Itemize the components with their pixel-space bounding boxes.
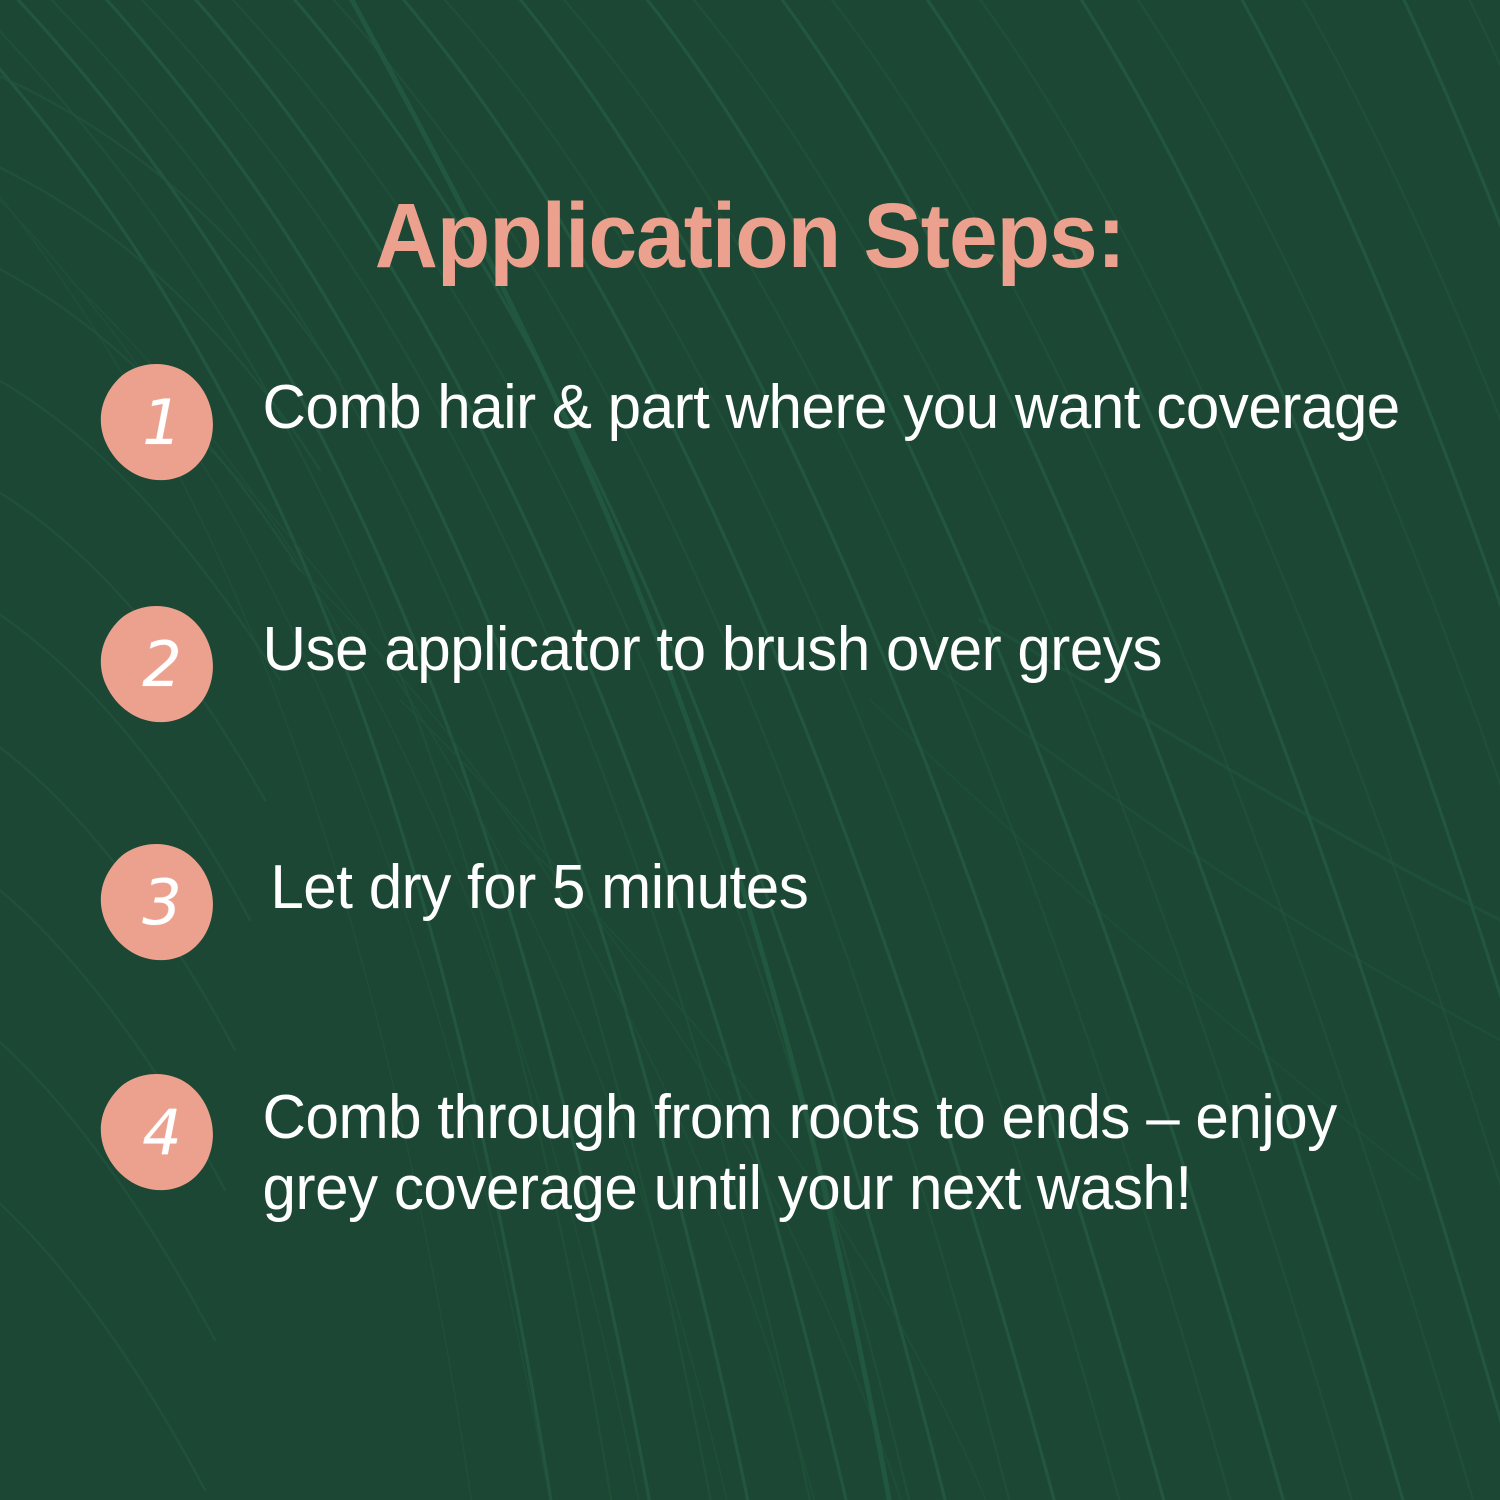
step-text-2: Use applicator to brush over greys (216, 597, 1461, 686)
step-number-3: 3 (98, 841, 216, 961)
page-title: Application Steps: (375, 190, 1125, 282)
step-badge-3: 3 (98, 841, 216, 961)
step-number-2: 2 (98, 603, 216, 723)
step-text-4: Comb through from roots to ends – enjoy … (216, 1065, 1461, 1224)
step-badge-2: 2 (98, 603, 216, 723)
step-badge-4: 4 (98, 1071, 216, 1191)
application-steps-poster: Application Steps: 1 Comb hair & part wh… (0, 0, 1500, 1500)
step-text-1: Comb hair & part where you want coverage (216, 355, 1461, 444)
step-text-3: Let dry for 5 minutes (216, 835, 1461, 924)
step-item-3: 3 Let dry for 5 minutes (0, 835, 1500, 995)
step-badge-1: 1 (98, 361, 216, 481)
step-number-1: 1 (98, 361, 216, 481)
page-title-container: Application Steps: (0, 128, 1500, 343)
step-item-4: 4 Comb through from roots to ends – enjo… (0, 1065, 1500, 1225)
step-item-2: 2 Use applicator to brush over greys (0, 597, 1500, 757)
step-number-4: 4 (98, 1071, 216, 1191)
step-item-1: 1 Comb hair & part where you want covera… (0, 355, 1500, 515)
application-steps-list: 1 Comb hair & part where you want covera… (0, 355, 1500, 1225)
